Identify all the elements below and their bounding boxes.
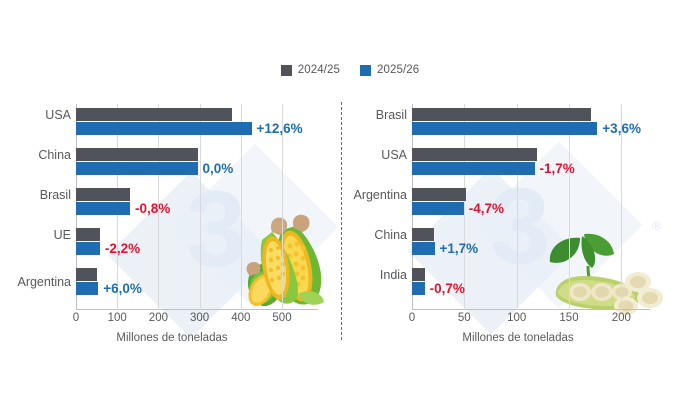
- delta-label: -0,8%: [130, 202, 170, 215]
- x-tick: 200: [149, 312, 168, 324]
- x-tick: 0: [409, 312, 415, 324]
- category-label: China: [374, 228, 407, 242]
- bar-2025-26[interactable]: [76, 282, 98, 295]
- bar-2025-26[interactable]: [76, 202, 130, 215]
- x-tick: 200: [612, 312, 631, 324]
- bar-2025-26[interactable]: [412, 282, 425, 295]
- delta-label: +6,0%: [98, 282, 142, 295]
- soybean-plot-area: Brasil +3,6% USA -1,7% Argentina -4,7%: [412, 104, 650, 310]
- x-tick: 0: [73, 312, 79, 324]
- legend-item-current[interactable]: 2025/26: [360, 64, 419, 76]
- bar-2025-26[interactable]: [412, 202, 464, 215]
- category-label: India: [380, 268, 407, 282]
- delta-label: 0,0%: [198, 162, 234, 175]
- bar-2024-25[interactable]: [76, 148, 198, 161]
- delta-label: +12,6%: [252, 122, 303, 135]
- delta-label: +3,6%: [597, 122, 641, 135]
- bar-2025-26[interactable]: [412, 122, 597, 135]
- x-tick: 100: [108, 312, 127, 324]
- x-axis-title: Millones de toneladas: [4, 332, 340, 344]
- panel-divider: [341, 102, 342, 340]
- bar-2025-26[interactable]: [76, 242, 100, 255]
- category-label: USA: [45, 108, 71, 122]
- legend-item-previous[interactable]: 2024/25: [281, 64, 340, 76]
- bar-2025-26[interactable]: [76, 162, 198, 175]
- bar-2024-25[interactable]: [412, 228, 434, 241]
- x-axis-title: Millones de toneladas: [348, 332, 688, 344]
- bar-2024-25[interactable]: [76, 188, 130, 201]
- x-axis-line: [412, 309, 650, 310]
- bar-2025-26[interactable]: [412, 242, 435, 255]
- x-tick: 100: [507, 312, 526, 324]
- x-tick: 150: [559, 312, 578, 324]
- bar-2024-25[interactable]: [412, 148, 537, 161]
- delta-label: +1,7%: [435, 242, 479, 255]
- x-tick: 300: [190, 312, 209, 324]
- category-label: Brasil: [40, 188, 71, 202]
- bar-2024-25[interactable]: [76, 108, 232, 121]
- bar-2025-26[interactable]: [76, 122, 252, 135]
- x-tick: 500: [272, 312, 291, 324]
- legend-label-current: 2025/26: [377, 64, 419, 76]
- delta-label: -0,7%: [425, 282, 465, 295]
- bar-2024-25[interactable]: [412, 188, 466, 201]
- delta-label: -4,7%: [464, 202, 504, 215]
- chart-legend: 2024/25 2025/26: [0, 64, 700, 76]
- category-label: Brasil: [376, 108, 407, 122]
- category-label: Argentina: [353, 188, 407, 202]
- soybean-chart-panel: Brasil +3,6% USA -1,7% Argentina -4,7%: [348, 96, 688, 356]
- category-label: China: [38, 148, 71, 162]
- legend-swatch-previous-icon: [281, 65, 292, 76]
- bar-2025-26[interactable]: [412, 162, 535, 175]
- delta-label: -2,2%: [100, 242, 140, 255]
- category-label: Argentina: [17, 275, 71, 289]
- corn-chart-panel: USA +12,6% China 0,0% Brasil -0,8%: [4, 96, 340, 356]
- category-label: USA: [381, 148, 407, 162]
- corn-plot-area: USA +12,6% China 0,0% Brasil -0,8%: [76, 104, 318, 310]
- delta-label: -1,7%: [535, 162, 575, 175]
- chart-canvas: 3 ® 3 ® 2024/25 2025/26: [0, 0, 700, 400]
- category-label: UE: [54, 228, 71, 242]
- x-tick: 400: [231, 312, 250, 324]
- bar-2024-25[interactable]: [76, 228, 100, 241]
- bar-2024-25[interactable]: [412, 268, 425, 281]
- legend-swatch-current-icon: [360, 65, 371, 76]
- bar-2024-25[interactable]: [76, 268, 97, 281]
- bar-2024-25[interactable]: [412, 108, 591, 121]
- legend-label-previous: 2024/25: [298, 64, 340, 76]
- x-tick: 50: [458, 312, 471, 324]
